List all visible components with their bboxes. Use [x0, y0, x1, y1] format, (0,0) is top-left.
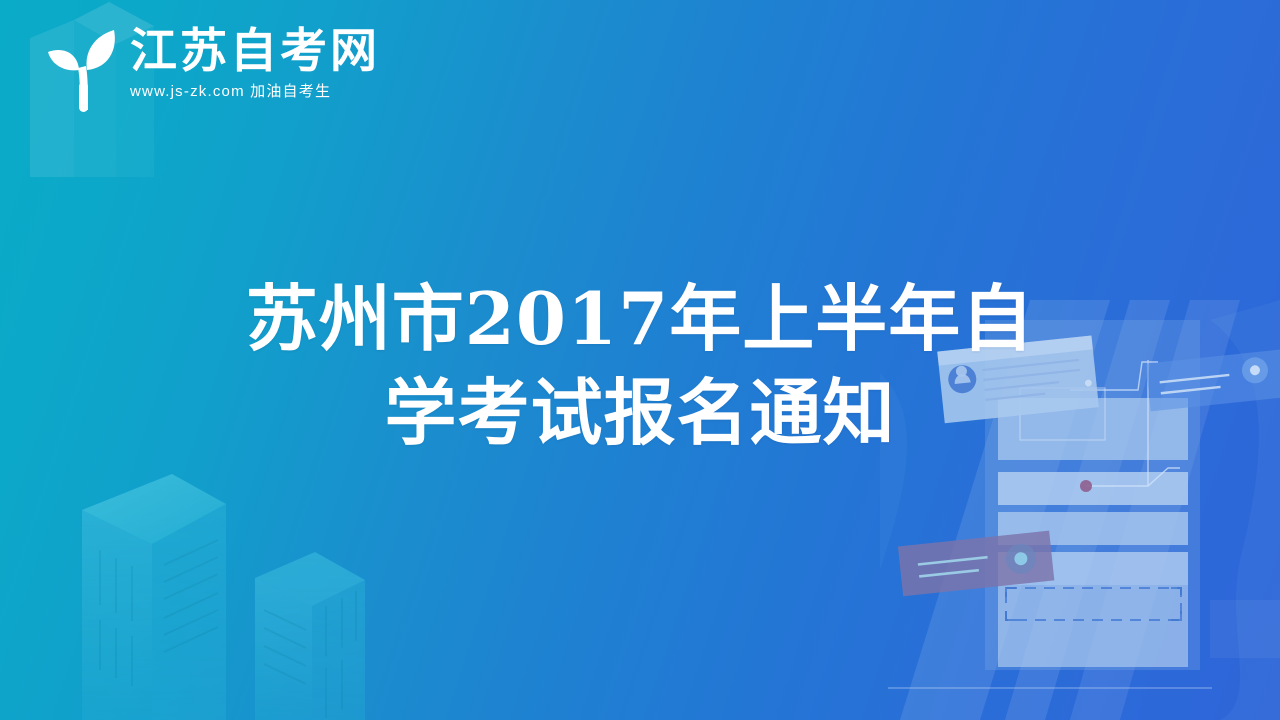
- isometric-buildings-icon: [60, 430, 400, 720]
- site-logo[interactable]: 江苏自考网 www.js-zk.com 加油自考生: [38, 22, 380, 112]
- page-title-line-2: 学考试报名通知: [170, 366, 1110, 460]
- logo-brand-name: 江苏自考网: [130, 26, 380, 78]
- logo-tagline: www.js-zk.com 加油自考生: [130, 83, 380, 101]
- page-title-line-1: 苏州市2017年上半年自: [170, 272, 1110, 366]
- sprout-leaf-icon: [38, 24, 122, 112]
- article-cover-banner: 江苏自考网 www.js-zk.com 加油自考生 苏州市2017年上半年自 学…: [0, 0, 1280, 720]
- page-title: 苏州市2017年上半年自 学考试报名通知: [0, 272, 1280, 460]
